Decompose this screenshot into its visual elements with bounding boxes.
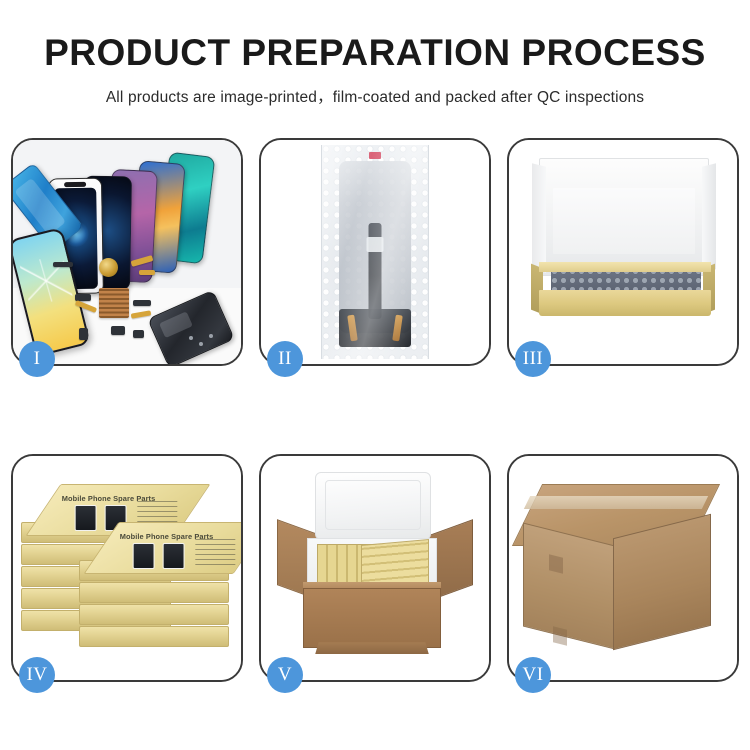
screw-component <box>199 342 203 346</box>
packing-tape <box>524 496 708 509</box>
stacked-box-side <box>79 582 229 603</box>
process-step-panel-5: V <box>259 454 491 682</box>
photo-carton-with-styrofoam-and-gold-boxes <box>261 456 489 680</box>
screw-component <box>209 334 213 338</box>
carton-bottom-edge <box>315 642 429 654</box>
photo-assorted-phone-screens-and-parts <box>13 140 241 364</box>
page-title: PRODUCT PREPARATION PROCESS <box>0 34 750 73</box>
step-badge-6: VI <box>515 657 551 693</box>
step-badge-2: II <box>267 341 303 377</box>
carton-left-face <box>523 523 615 650</box>
bubble-wrap-sleeve <box>321 145 429 359</box>
process-step-panel-6: VI <box>507 454 739 682</box>
box-stack: Mobile Phone Spare Parts Mobile Phone Sp… <box>21 478 237 666</box>
process-step-panel-4: Mobile Phone Spare Parts Mobile Phone Sp… <box>11 454 243 682</box>
styrofoam-lid <box>315 472 431 540</box>
stacked-box-side <box>79 626 229 647</box>
photo-stacked-gold-retail-boxes: Mobile Phone Spare Parts Mobile Phone Sp… <box>13 456 241 680</box>
header: PRODUCT PREPARATION PROCESS All products… <box>0 0 750 107</box>
carton-right-face <box>613 514 711 650</box>
step-badge-1: I <box>19 341 55 377</box>
step-badge-5: V <box>267 657 303 693</box>
chip-component <box>111 326 125 335</box>
photo-open-gold-tray-box <box>509 140 737 364</box>
screw-component <box>189 336 193 340</box>
copper-coil-component <box>99 258 118 277</box>
chip-component <box>53 262 73 267</box>
phone-notch <box>64 182 86 187</box>
foam-insert <box>553 188 695 254</box>
product-preparation-infographic: PRODUCT PREPARATION PROCESS All products… <box>0 0 750 750</box>
process-step-panel-3: III <box>507 138 739 366</box>
box-product-image <box>75 505 97 531</box>
stacked-box-side <box>79 604 229 625</box>
chip-component <box>133 330 144 338</box>
process-step-panel-1: I <box>11 138 243 366</box>
carton-front-panel <box>303 588 441 648</box>
photo-sealed-shipping-carton <box>509 456 737 680</box>
page-subtitle: All products are image-printed，film-coat… <box>0 85 750 107</box>
box-product-image <box>133 543 155 569</box>
mesh-pad-component <box>99 288 129 318</box>
photo-screen-wrapped-in-bubble-wrap <box>261 140 489 364</box>
process-step-panel-2: II <box>259 138 491 366</box>
step-badge-4: IV <box>19 657 55 693</box>
flex-cable-component <box>139 270 155 275</box>
plastic-sheen-overlay <box>322 145 428 359</box>
tray-front-panel <box>539 290 711 316</box>
chip-component <box>133 300 151 306</box>
carton-seam-mark <box>549 554 563 573</box>
box-product-image <box>163 543 185 569</box>
tray-rim <box>539 262 711 272</box>
process-step-grid: I II <box>11 138 739 682</box>
box-spec-lines <box>195 539 235 565</box>
carton-seam-mark <box>553 626 567 645</box>
step-badge-3: III <box>515 341 551 377</box>
chip-component <box>79 328 88 340</box>
